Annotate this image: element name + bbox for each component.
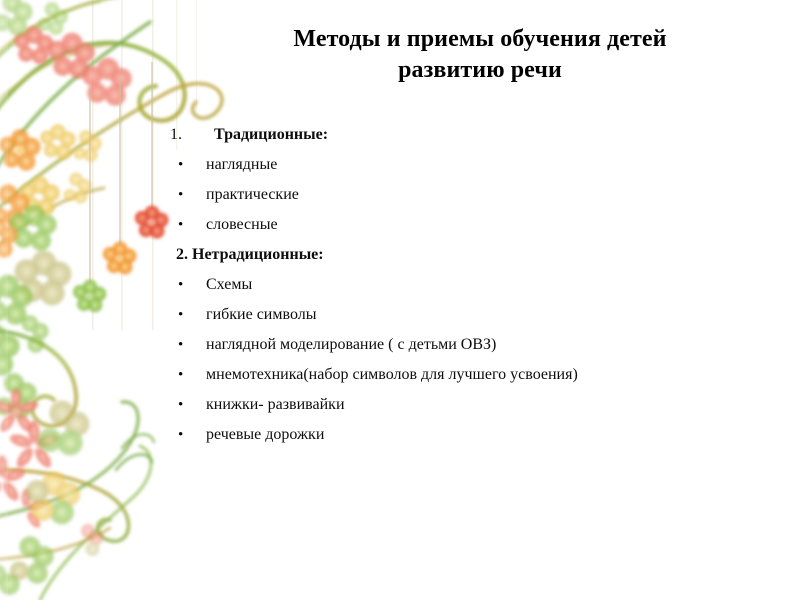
title-line-1: Методы и приемы обучения детей xyxy=(180,24,780,55)
flower-cluster-orange xyxy=(0,124,102,228)
list-item-label: практические xyxy=(206,180,299,210)
list-item: • мнемотехника(набор символов для лучшег… xyxy=(170,360,790,390)
list-item: • Схемы xyxy=(170,270,790,300)
list-item: • практические xyxy=(170,180,790,210)
list-item: 1. Традиционные: xyxy=(170,120,790,150)
list-item: 2. Нетрадиционные: xyxy=(170,240,790,270)
list-item-label: 2. Нетрадиционные: xyxy=(176,240,324,270)
vine-swirls-bottom xyxy=(0,330,154,600)
list-item: • гибкие символы xyxy=(170,300,790,330)
list-item-label: книжки- развивайки xyxy=(206,390,345,420)
flower-cluster-coral-top xyxy=(0,0,132,106)
list-marker: 1. xyxy=(170,120,204,150)
edge-blend xyxy=(0,0,8,600)
list-item-label: гибкие символы xyxy=(206,300,316,330)
list-item-label: Традиционные: xyxy=(214,120,328,150)
content-list: 1. Традиционные: • наглядные • практичес… xyxy=(170,120,790,450)
list-item-label: наглядной моделирование ( с детьми ОВЗ) xyxy=(206,330,496,360)
list-item: • речевые дорожки xyxy=(170,420,790,450)
flower-cluster-green-mid xyxy=(0,204,72,419)
list-item-label: речевые дорожки xyxy=(206,420,324,450)
list-item: • наглядной моделирование ( с детьми ОВЗ… xyxy=(170,330,790,360)
list-item-label: словесные xyxy=(206,210,278,240)
hanging-flower-green xyxy=(73,92,107,313)
flower-cluster-coral-bottom xyxy=(0,388,103,595)
hanging-flower-red xyxy=(135,62,169,239)
list-item: • словесные xyxy=(170,210,790,240)
list-item-label: Схемы xyxy=(206,270,252,300)
list-item-label: мнемотехника(набор символов для лучшего … xyxy=(206,360,578,390)
title-line-2: развитию речи xyxy=(180,55,780,86)
list-item: • наглядные xyxy=(170,150,790,180)
hanging-flower-orange xyxy=(103,78,137,275)
list-item-label: наглядные xyxy=(206,150,277,180)
list-item: • книжки- развивайки xyxy=(170,390,790,420)
page-title: Методы и приемы обучения детей развитию … xyxy=(180,24,780,86)
hanging-flowers-group xyxy=(73,62,169,313)
slide-canvas: Методы и приемы обучения детей развитию … xyxy=(0,0,800,600)
